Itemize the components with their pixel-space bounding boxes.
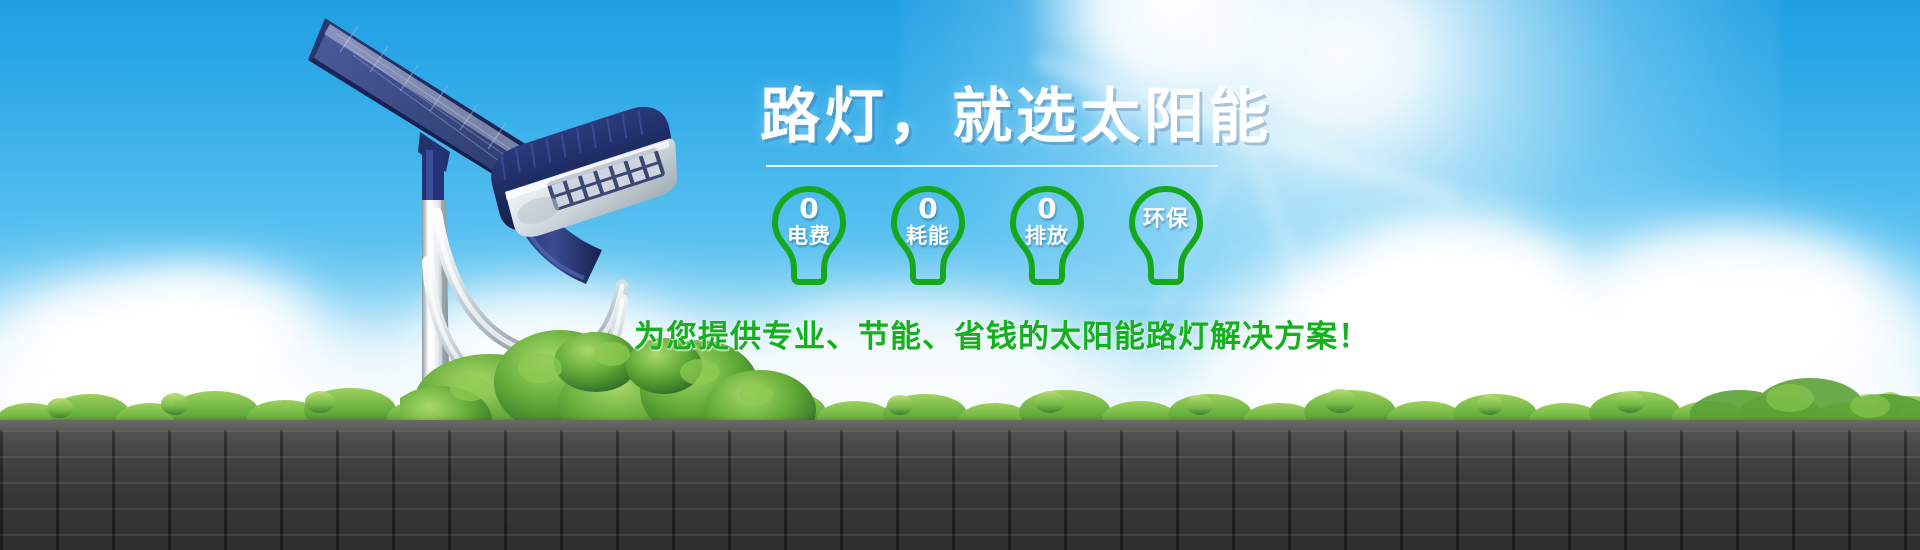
lightbulb-icon — [1123, 183, 1209, 287]
brick-wall — [0, 430, 1920, 550]
badge-number: 0 — [885, 195, 971, 223]
banner-tagline: 为您提供专业、节能、省钱的太阳能路灯解决方案！ — [634, 311, 1460, 356]
badge-label: 耗能 — [885, 226, 971, 247]
feature-badge-list: 0 电费 0 耗能 — [766, 183, 1460, 287]
badge-energy-consumption[interactable]: 0 耗能 — [885, 183, 971, 287]
badge-text: 0 排放 — [1004, 195, 1090, 247]
badge-electricity-fee[interactable]: 0 电费 — [766, 183, 852, 287]
badge-emissions[interactable]: 0 排放 — [1004, 183, 1090, 287]
headline-divider — [766, 165, 1218, 167]
solar-street-light-banner: 路灯，就选太阳能 0 电费 — [0, 0, 1920, 550]
banner-copy: 路灯，就选太阳能 0 电费 — [760, 86, 1460, 356]
badge-number: 0 — [766, 195, 852, 223]
banner-headline: 路灯，就选太阳能 — [760, 86, 1460, 149]
badge-number: 0 — [1004, 195, 1090, 223]
badge-label: 电费 — [766, 226, 852, 247]
badge-text: 环保 — [1123, 207, 1209, 231]
badge-text: 0 电费 — [766, 195, 852, 247]
badge-label: 排放 — [1004, 226, 1090, 247]
badge-text: 0 耗能 — [885, 195, 971, 247]
badge-label: 环保 — [1123, 209, 1209, 231]
badge-eco-friendly[interactable]: 环保 — [1123, 183, 1209, 287]
